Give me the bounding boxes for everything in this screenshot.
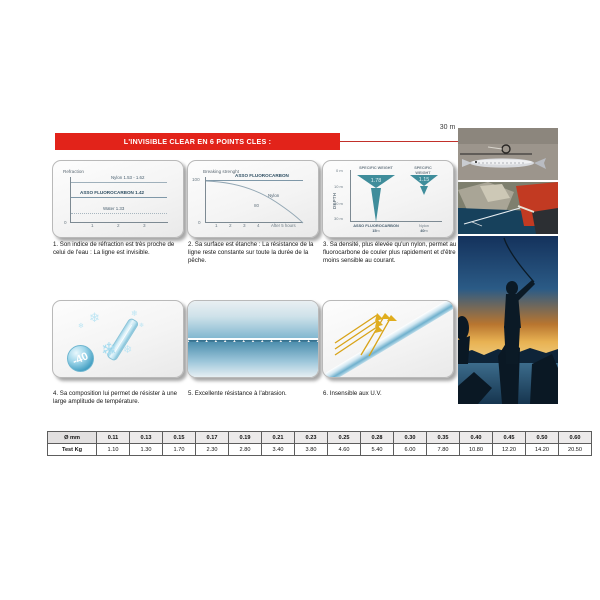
y-tick-max: 100 (192, 177, 200, 182)
photo-angler-sunset-silhouette (458, 236, 558, 404)
bar-header-fluorocarbon: SPECIFIC WEIGHT (357, 166, 395, 171)
bar-label-fluorocarbon: ASSO FLUOROCARBON 15m (351, 223, 401, 233)
bar-arrow-nylon: 1.15 (410, 175, 438, 195)
bar-depth-unit-nylon: m (425, 228, 428, 233)
series-label-nylon: Nylon 1.53 - 1.62 (111, 175, 144, 180)
test-kg-cell: 1.10 (97, 444, 130, 456)
series-line-water (71, 213, 167, 214)
photo-barracuda-on-sand (458, 128, 558, 180)
chart-title: Breaking strenght (203, 169, 239, 174)
test-kg-cell: 7.80 (427, 444, 460, 456)
diameter-cell: 0.15 (163, 432, 196, 444)
photo-angler-on-rocks (458, 182, 558, 234)
y-axis (350, 170, 351, 222)
thermometer-bulb: -40 (67, 345, 94, 372)
abrasion-upper-band (188, 301, 318, 339)
panel-breaking-strength: Breaking strenght ASSO FLUOROCARBON Nylo… (187, 160, 319, 238)
sunset-silhouette-graphic (458, 236, 558, 404)
test-kg-cell: 4.60 (328, 444, 361, 456)
mid-value-label: 80 (254, 203, 259, 208)
barracuda-photo-graphic (458, 128, 558, 180)
snowflake-icon: ❄ (89, 311, 100, 324)
test-kg-cell: 20.50 (559, 444, 592, 456)
panel-uv (322, 300, 454, 378)
test-kg-cell: 1.70 (163, 444, 196, 456)
test-kg-cell: 12.20 (493, 444, 526, 456)
y-axis (70, 177, 71, 223)
bar-header-nylon: SPECIFIC WEIGHT (407, 166, 439, 175)
caption-point-2: 2. Sa surface est étanche : La résistanc… (188, 241, 320, 265)
series-label-nylon: Nylon (268, 193, 279, 198)
bar-value-fluorocarbon: 1.78 (357, 178, 395, 184)
test-kg-cell: 10.80 (460, 444, 493, 456)
y-tick-30: 30 m (334, 216, 343, 221)
product-sheet-page: L'INVISIBLE CLEAR EN 6 POINTS CLES : 30 … (0, 0, 600, 600)
y-tick-10: 10 m (334, 184, 343, 189)
breaking-strength-chart: Breaking strenght ASSO FLUOROCARBON Nylo… (188, 161, 318, 237)
diameter-cell: 0.45 (493, 432, 526, 444)
angler-on-rocks-graphic (458, 182, 558, 234)
diameter-cell: 0.50 (526, 432, 559, 444)
spec-table: Ø mm 0.11 0.13 0.15 0.17 0.19 0.21 0.23 … (47, 431, 592, 456)
diameter-cell: 0.17 (196, 432, 229, 444)
caption-point-5: 5. Excellente résistance à l'abrasion. (188, 390, 320, 398)
x-tick-1: 1 (215, 223, 218, 228)
refraction-chart: Refraction Nylon 1.53 - 1.62 ASSO FLUORO… (53, 161, 183, 237)
snowflake-icon: ❄ (123, 345, 132, 356)
x-tick-3: 3 (243, 223, 246, 228)
series-label-water: Water 1.33 (103, 206, 124, 211)
series-label-fluorocarbon: ASSO FLUOROCARBON (235, 173, 289, 178)
test-kg-cell: 1.30 (130, 444, 163, 456)
snowflake-icon: ❄ (101, 341, 117, 360)
test-kg-cell: 3.80 (295, 444, 328, 456)
x-tick-4: 4 (257, 223, 260, 228)
series-line-fluorocarbon (71, 197, 167, 198)
diameter-cell: 0.25 (328, 432, 361, 444)
table-row: Ø mm 0.11 0.13 0.15 0.17 0.19 0.21 0.23 … (48, 432, 592, 444)
panel-density: DEPTH 0 m 10 m 20 m 30 m SPECIFIC WEIGHT… (322, 160, 454, 238)
series-curve-nylon (206, 180, 304, 224)
y-tick-min: 0 (198, 220, 201, 225)
chart-title: Refraction (63, 169, 84, 174)
x-tick-2: 2 (117, 223, 120, 228)
table-row: Test Kg 1.10 1.30 1.70 2.30 2.80 3.40 3.… (48, 444, 592, 456)
caption-point-1: 1. Son indice de réfraction est très pro… (53, 241, 185, 257)
test-kg-cell: 2.30 (196, 444, 229, 456)
y-tick-0: 0 m (336, 168, 343, 173)
x-axis-note: After 5 hours (271, 223, 296, 228)
x-tick-2: 2 (229, 223, 232, 228)
series-line-nylon (71, 182, 167, 183)
bar-arrow-fluorocarbon: 1.78 (357, 175, 395, 222)
uv-rays-icon (331, 309, 411, 361)
snowflake-icon: ❄ (131, 310, 138, 318)
test-kg-cell: 14.20 (526, 444, 559, 456)
abrasion-lower-band (188, 342, 318, 377)
diameter-cell: 0.40 (460, 432, 493, 444)
banner-title: L'INVISIBLE CLEAR EN 6 POINTS CLES : (124, 137, 271, 146)
bar-depth-unit-fluorocarbon: m (377, 228, 380, 233)
diameter-cell: 0.23 (295, 432, 328, 444)
caption-point-6: 6. Insensible aux U.V. (323, 390, 461, 398)
test-kg-cell: 2.80 (229, 444, 262, 456)
row-header-test-kg: Test Kg (48, 444, 97, 456)
caption-point-4: 4. Sa composition lui permet de résister… (53, 390, 185, 406)
section-banner: L'INVISIBLE CLEAR EN 6 POINTS CLES : (55, 133, 340, 150)
origin-tick: 0 (64, 220, 67, 225)
caption-point-3: 3. Sa densité, plus élevée qu'un nylon, … (323, 241, 461, 265)
panel-temperature: ❄ ❄ ❄ ❄ ❄ ❄ -40 (52, 300, 184, 378)
row-header-diameter: Ø mm (48, 432, 97, 444)
diameter-cell: 0.11 (97, 432, 130, 444)
bar-value-nylon: 1.15 (410, 177, 438, 183)
depth-chart: DEPTH 0 m 10 m 20 m 30 m SPECIFIC WEIGHT… (323, 161, 453, 237)
x-tick-1: 1 (91, 223, 94, 228)
test-kg-cell: 6.00 (394, 444, 427, 456)
y-tick-20: 20 m (334, 201, 343, 206)
panel-refraction: Refraction Nylon 1.53 - 1.62 ASSO FLUORO… (52, 160, 184, 238)
diameter-cell: 0.19 (229, 432, 262, 444)
snowflake-icon: ❄ (139, 323, 144, 329)
diameter-cell: 0.35 (427, 432, 460, 444)
test-kg-cell: 5.40 (361, 444, 394, 456)
series-label-fluorocarbon: ASSO FLUOROCARBON 1.42 (80, 190, 144, 195)
diameter-cell: 0.60 (559, 432, 592, 444)
snowflake-icon: ❄ (78, 323, 84, 330)
temperature-value: -40 (67, 348, 95, 369)
bar-label-nylon: Nylon 40m (408, 223, 440, 233)
panel-abrasion (187, 300, 319, 378)
test-kg-cell: 3.40 (262, 444, 295, 456)
diameter-cell: 0.30 (394, 432, 427, 444)
diameter-cell: 0.21 (262, 432, 295, 444)
x-tick-3: 3 (143, 223, 146, 228)
diameter-cell: 0.28 (361, 432, 394, 444)
diameter-cell: 0.13 (130, 432, 163, 444)
